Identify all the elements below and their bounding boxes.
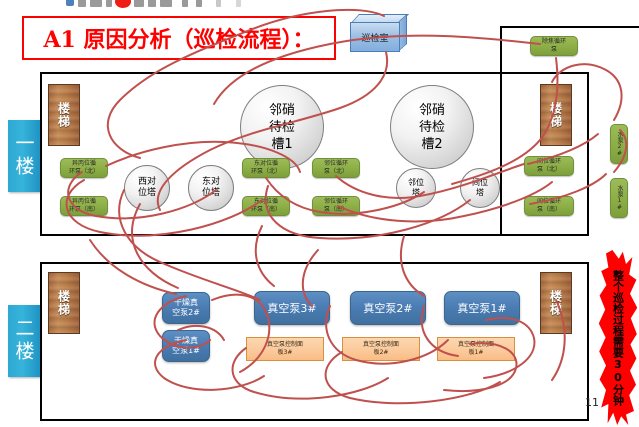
top-ribbon-strip	[0, 0, 639, 9]
floor2-tag: 二楼	[8, 305, 40, 377]
stairs-floor2-left: 楼梯	[48, 272, 80, 334]
panel1-line2: 板1#	[458, 349, 494, 357]
tower4-line1: 间位	[472, 178, 488, 188]
dry-pump1-line2: 空泵1#	[172, 346, 200, 356]
pump-linwei-north: 邻位循环 泵（北）	[312, 158, 360, 178]
pump4-line1: 东对位循	[251, 198, 281, 206]
dry-vacuum-pump-1: 干燥真 空泵1#	[162, 330, 210, 362]
dry-vacuum-pump-2: 干燥真 空泵2#	[162, 292, 210, 324]
stairs-floor2-right: 楼梯	[540, 272, 572, 334]
pump-dongduiwei-north: 东对位循 环泵（北）	[242, 158, 290, 178]
tower3-line2: 塔	[408, 188, 424, 198]
panel1-line1: 真空泵控制面	[458, 341, 494, 349]
pump1-line1: 异丙位循	[69, 160, 99, 168]
tower-xiduiwei: 西对 位塔	[124, 165, 170, 211]
dry-pump2-line2: 空泵2#	[172, 308, 200, 318]
tank1-line2: 待检	[269, 119, 295, 136]
ribbon-segment	[216, 0, 221, 7]
tower4-line2: 塔	[472, 188, 488, 198]
duration-callout-text: 整个巡检过程需要30分钟	[612, 270, 625, 406]
ribbon-segment	[182, 0, 188, 7]
tower1-line1: 西对	[138, 177, 156, 188]
tank-linxiao-2: 邻硝 待检 槽2	[390, 85, 474, 169]
dry-pump1-line1: 干燥真	[172, 336, 200, 346]
tower-jianwei: 间位 塔	[460, 168, 500, 208]
pump7-line1: 间位循环	[537, 158, 561, 166]
tower-dongduiwei: 东对 位塔	[188, 165, 234, 211]
ribbon-segment	[78, 0, 86, 7]
pump4-line2: 环泵（南）	[251, 206, 281, 214]
tank2-line1: 邻硝	[419, 102, 445, 119]
slide-title-text: A1 原因分析（巡检流程）：	[43, 22, 314, 54]
panel3-line2: 板3#	[267, 349, 303, 357]
tower3-line1: 邻位	[408, 178, 424, 188]
tank2-line3: 槽2	[419, 136, 445, 153]
ribbon-red-marker	[115, 0, 131, 8]
inspection-room-box: 巡检室	[350, 14, 406, 50]
pump3-line1: 东对位循	[251, 160, 281, 168]
ribbon-segment	[134, 0, 144, 7]
pump1-line2: 环泵（北）	[69, 168, 99, 176]
ribbon-segment	[160, 0, 172, 7]
tank-linxiao-1: 邻硝 待检 槽1	[240, 85, 324, 169]
page-number: 11	[585, 396, 599, 409]
stairs-floor1-left: 楼梯	[48, 84, 80, 146]
pump2-line1: 异丙位循	[69, 198, 99, 206]
pump-yibing-south: 异丙位循 环泵（南）	[60, 196, 108, 216]
ribbon-segment	[90, 0, 102, 7]
tower-linwei: 邻位 塔	[396, 168, 436, 208]
floor1-tag: 一楼	[8, 120, 40, 192]
pump3-line2: 环泵（北）	[251, 168, 281, 176]
pump8-line2: 泵（南）	[537, 206, 561, 214]
vacuum-pump-2: 真空泵2#	[350, 291, 426, 325]
ribbon-segment	[236, 0, 241, 7]
dry-pump2-line1: 干燥真	[172, 298, 200, 308]
pump5-line2: 泵（北）	[324, 168, 348, 176]
pump-dejiao-line2: 泵	[542, 46, 566, 54]
tower2-line1: 东对	[202, 177, 220, 188]
panel3-line1: 真空泵控制面	[267, 341, 303, 349]
tower1-line2: 位塔	[138, 188, 156, 199]
panel2-line2: 板2#	[363, 349, 399, 357]
ribbon-segment	[196, 0, 202, 7]
ribbon-segment	[106, 0, 112, 7]
duration-callout: 整个巡检过程需要30分钟	[598, 250, 638, 425]
pump6-line1: 邻位循环	[324, 198, 348, 206]
pump5-line1: 邻位循环	[324, 160, 348, 168]
pump-dongduiwei-south: 东对位循 环泵（南）	[242, 196, 290, 216]
tank1-line1: 邻硝	[269, 102, 295, 119]
slide-canvas: A1 原因分析（巡检流程）： 巡检室 一楼 楼梯 楼梯 除焦循环 泵 邻硝 待检…	[0, 0, 639, 427]
pump7-line2: 泵（北）	[537, 166, 561, 174]
pump-water-2: 水泵2#	[610, 124, 628, 164]
tank1-line3: 槽1	[269, 136, 295, 153]
pump-jianwei-south: 间位循环 泵（南）	[524, 196, 574, 216]
pump2-line2: 环泵（南）	[69, 206, 99, 214]
pump-dejiao-line1: 除焦循环	[542, 38, 566, 46]
tower2-line2: 位塔	[202, 188, 220, 199]
vacuum-pump-3: 真空泵3#	[254, 291, 330, 325]
pump-yibing-north: 异丙位循 环泵（北）	[60, 158, 108, 178]
ribbon-blue-marker	[66, 0, 74, 6]
inspection-room-label: 巡检室	[350, 22, 400, 52]
slide-title: A1 原因分析（巡检流程）：	[22, 16, 336, 60]
pump-dejiao-circulation: 除焦循环 泵	[530, 36, 578, 56]
panel2-line1: 真空泵控制面	[363, 341, 399, 349]
pump6-line2: 泵（南）	[324, 206, 348, 214]
vacuum-pump-1: 真空泵1#	[444, 291, 520, 325]
ribbon-segment	[148, 0, 156, 7]
pump-linwei-south: 邻位循环 泵（南）	[312, 196, 360, 216]
vacuum-control-panel-3: 真空泵控制面 板3#	[246, 337, 324, 361]
tank2-line2: 待检	[419, 119, 445, 136]
pump8-line1: 间位循环	[537, 198, 561, 206]
vacuum-control-panel-2: 真空泵控制面 板2#	[342, 337, 420, 361]
pump-water-1: 水泵1#	[610, 178, 628, 218]
vacuum-control-panel-1: 真空泵控制面 板1#	[437, 337, 515, 361]
pump-jianwei-north: 间位循环 泵（北）	[524, 156, 574, 176]
